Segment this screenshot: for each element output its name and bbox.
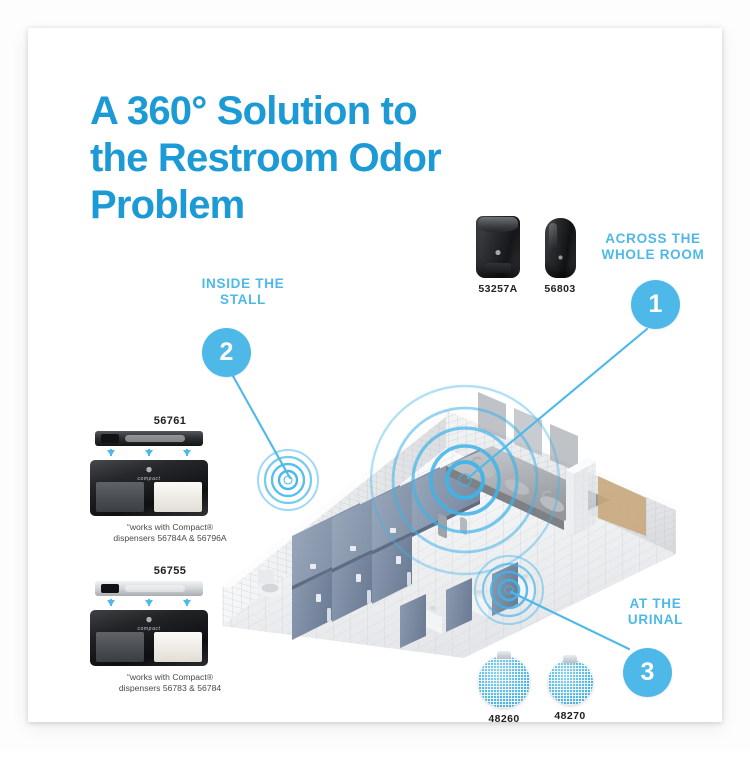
poster-canvas: A 360° Solution to the Restroom Odor Pro… [0, 0, 750, 750]
product-56803[interactable]: 56803 [530, 218, 590, 295]
product-48260[interactable]: 48260 [475, 656, 533, 725]
dispenser-56761-icon: compact [90, 431, 208, 516]
dispenser-56755-icon: compact [90, 581, 208, 666]
product-sku: 48260 [475, 713, 533, 725]
dispenser-53257A-icon [476, 216, 520, 278]
callout-label-3: AT THE URINAL [593, 596, 718, 629]
product-48270[interactable]: 48270 [541, 660, 599, 722]
install-arrows-icon [90, 446, 208, 460]
callout-badge-2[interactable]: 2 [202, 328, 251, 377]
product-note: “works with Compact® dispensers 56783 & … [90, 672, 250, 694]
entry-partition [566, 458, 596, 536]
page-title: A 360° Solution to the Restroom Odor Pro… [90, 88, 560, 230]
callout-badge-3[interactable]: 3 [623, 648, 672, 697]
install-arrows-icon [90, 596, 208, 610]
callout-badge-1[interactable]: 1 [631, 280, 680, 329]
urinal-screen-48260-icon [478, 656, 530, 708]
product-53257A[interactable]: 53257A [463, 216, 533, 295]
callout-label-1: ACROSS THE WHOLE ROOM [588, 231, 718, 264]
product-sku: 48270 [541, 710, 599, 722]
dispenser-56803-icon [545, 218, 576, 278]
product-sku: 53257A [463, 283, 533, 295]
product-sku: 56803 [530, 283, 590, 295]
callout-label-2: INSIDE THE STALL [173, 276, 313, 309]
urinal-screen-48270-icon [548, 660, 593, 705]
poster-card: A 360° Solution to the Restroom Odor Pro… [28, 28, 722, 722]
emission-rings-stall [258, 450, 318, 510]
